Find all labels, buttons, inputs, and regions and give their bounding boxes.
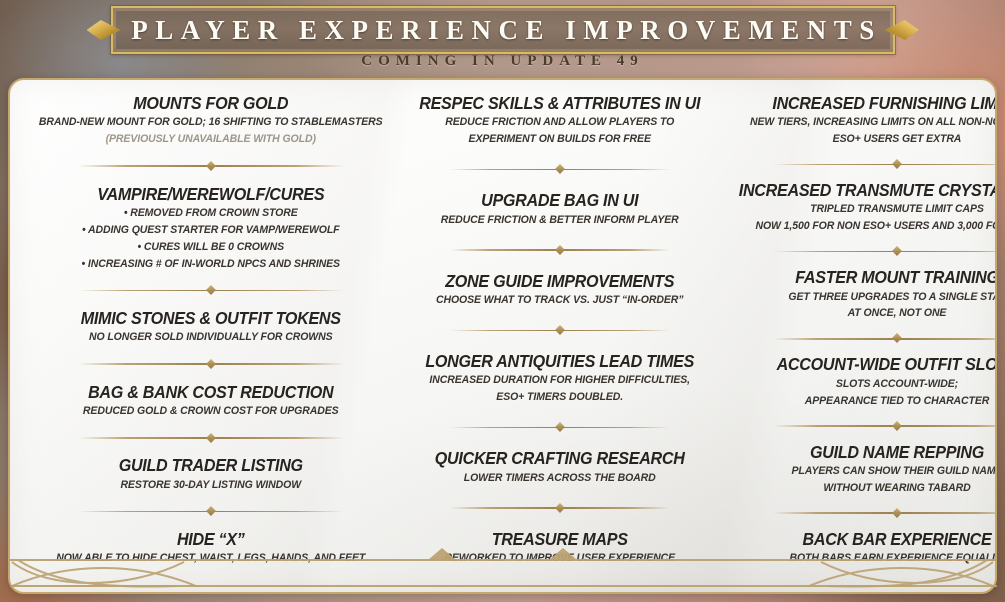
divider-line	[773, 425, 997, 427]
feature-item: MIMIC STONES & OUTFIT TOKENSNO LONGER SO…	[26, 309, 395, 345]
feature-item: BACK BAR EXPERIENCEBOTH BARS EARN EXPERI…	[725, 530, 997, 566]
feature-item: INCREASED TRANSMUTE CRYSTAL LIMITTRIPLED…	[725, 181, 997, 234]
feature-description-line: ESO+ TIMERS DOUBLED.	[418, 390, 702, 405]
section-divider	[78, 359, 344, 368]
feature-description-line: WITHOUT WEARING TABARD	[737, 481, 997, 496]
divider-diamond-icon	[206, 359, 216, 369]
feature-description-line: NOW 1,500 FOR NON ESO+ USERS AND 3,000 F…	[737, 219, 997, 234]
feature-title: GUILD NAME REPPING	[739, 443, 997, 462]
feature-description-line: BOTH BARS EARN EXPERIENCE EQUALLY	[737, 551, 997, 566]
section-divider	[78, 286, 344, 295]
divider-diamond-icon	[892, 508, 902, 518]
column-2: RESPEC SKILLS & ATTRIBUTES IN UIREDUCE F…	[401, 94, 718, 566]
divider-diamond-icon	[892, 246, 902, 256]
feature-description-line: (PREVIOUSLY UNAVAILABLE WITH GOLD)	[39, 132, 383, 147]
feature-item: GUILD TRADER LISTINGRESTORE 30-DAY LISTI…	[26, 456, 395, 492]
diamond-gem-icon-right	[885, 20, 919, 40]
feature-title: UPGRADE BAG IN UI	[420, 191, 701, 210]
section-divider	[450, 245, 670, 254]
feature-item: LONGER ANTIQUITIES LEAD TIMESINCREASED D…	[407, 352, 712, 405]
feature-title: LONGER ANTIQUITIES LEAD TIMES	[420, 352, 701, 371]
feature-item: ACCOUNT-WIDE OUTFIT SLOTSSLOTS ACCOUNT-W…	[725, 355, 997, 408]
feature-item: TREASURE MAPSREWORKED TO IMPROVE USER EX…	[407, 530, 712, 566]
feature-description-line: NOW ABLE TO HIDE CHEST, WAIST, LEGS, HAN…	[39, 551, 383, 566]
feature-item: BAG & BANK COST REDUCTIONREDUCED GOLD & …	[26, 383, 395, 419]
feature-title: ZONE GUIDE IMPROVEMENTS	[420, 272, 701, 291]
feature-description-line: NO LONGER SOLD INDIVIDUALLY FOR CROWNS	[39, 330, 383, 345]
diamond-gem-icon-left	[87, 20, 121, 40]
divider-line	[773, 164, 997, 166]
feature-description-line: BRAND-NEW MOUNT FOR GOLD; 16 SHIFTING TO…	[39, 115, 383, 130]
divider-diamond-icon	[555, 245, 565, 255]
feature-description-line: EXPERIMENT ON BUILDS FOR FREE	[418, 132, 702, 147]
page-subtitle: COMING IN UPDATE 49	[0, 53, 1005, 70]
feature-description-line: TRIPLED TRANSMUTE LIMIT CAPS	[737, 202, 997, 217]
section-divider	[450, 326, 670, 335]
feature-title: BACK BAR EXPERIENCE	[739, 530, 997, 549]
feature-title: QUICKER CRAFTING RESEARCH	[420, 449, 701, 468]
feature-description-line: NEW TIERS, INCREASING LIMITS ON ALL NON-…	[737, 115, 997, 130]
feature-title: HIDE “X”	[41, 530, 381, 549]
column-1: MOUNTS FOR GOLDBRAND-NEW MOUNT FOR GOLD;…	[16, 94, 401, 566]
divider-diamond-icon	[555, 503, 565, 513]
feature-description-line: CHOOSE WHAT TO TRACK VS. JUST “IN-ORDER”	[418, 293, 702, 308]
feature-description-line: ESO+ USERS GET EXTRA	[737, 132, 997, 147]
feature-description-line: REWORKED TO IMPROVE USER EXPERIENCE	[418, 551, 702, 566]
feature-description-line: PLAYERS CAN SHOW THEIR GUILD NAME	[737, 464, 997, 479]
feature-item: RESPEC SKILLS & ATTRIBUTES IN UIREDUCE F…	[407, 94, 712, 147]
divider-line	[773, 512, 997, 514]
divider-diamond-icon	[206, 433, 216, 443]
section-divider	[773, 334, 997, 343]
feature-description-line: • ADDING QUEST STARTER FOR VAMP/WEREWOLF	[39, 223, 383, 238]
title-banner: PLAYER EXPERIENCE IMPROVEMENTS	[111, 6, 895, 54]
feature-description-line: REDUCE FRICTION AND ALLOW PLAYERS TO	[418, 115, 702, 130]
divider-line	[773, 338, 997, 340]
section-divider	[773, 508, 997, 517]
feature-description-line: GET THREE UPGRADES TO A SINGLE STAT	[737, 290, 997, 305]
divider-diamond-icon	[206, 285, 216, 295]
feature-description-line: • INCREASING # OF IN-WORLD NPCS AND SHRI…	[39, 257, 383, 272]
divider-diamond-icon	[555, 325, 565, 335]
infographic-stage: PLAYER EXPERIENCE IMPROVEMENTS COMING IN…	[0, 0, 1005, 602]
divider-diamond-icon	[892, 159, 902, 169]
feature-title: GUILD TRADER LISTING	[41, 456, 381, 475]
feature-title: RESPEC SKILLS & ATTRIBUTES IN UI	[420, 94, 701, 113]
section-divider	[450, 165, 670, 174]
column-3: INCREASED FURNISHING LIMITSNEW TIERS, IN…	[719, 94, 997, 566]
divider-line	[773, 251, 997, 253]
feature-description-line: AT ONCE, NOT ONE	[737, 306, 997, 321]
feature-title: INCREASED TRANSMUTE CRYSTAL LIMIT	[739, 181, 997, 200]
feature-title: ACCOUNT-WIDE OUTFIT SLOTS	[739, 355, 997, 374]
feature-title: MOUNTS FOR GOLD	[41, 94, 381, 113]
feature-item: INCREASED FURNISHING LIMITSNEW TIERS, IN…	[725, 94, 997, 147]
feature-item: VAMPIRE/WEREWOLF/CURES• REMOVED FROM CRO…	[26, 185, 395, 272]
feature-title: VAMPIRE/WEREWOLF/CURES	[41, 185, 381, 204]
feature-item: UPGRADE BAG IN UIREDUCE FRICTION & BETTE…	[407, 191, 712, 227]
feature-description-line: • REMOVED FROM CROWN STORE	[39, 206, 383, 221]
section-divider	[773, 160, 997, 169]
feature-description-line: REDUCE FRICTION & BETTER INFORM PLAYER	[418, 213, 702, 228]
section-divider	[78, 507, 344, 516]
feature-title: FASTER MOUNT TRAINING	[739, 268, 997, 287]
section-divider	[78, 161, 344, 170]
feature-description-line: APPEARANCE TIED TO CHARACTER	[737, 394, 997, 409]
feature-item: HIDE “X”NOW ABLE TO HIDE CHEST, WAIST, L…	[26, 530, 395, 566]
feature-description-line: INCREASED DURATION FOR HIGHER DIFFICULTI…	[418, 373, 702, 388]
title-banner-wrapper: PLAYER EXPERIENCE IMPROVEMENTS	[0, 4, 1005, 56]
page-title: PLAYER EXPERIENCE IMPROVEMENTS	[123, 15, 882, 46]
feature-title: MIMIC STONES & OUTFIT TOKENS	[41, 309, 381, 328]
feature-description-line: RESTORE 30-DAY LISTING WINDOW	[39, 478, 383, 493]
feature-description-line: REDUCED GOLD & CROWN COST FOR UPGRADES	[39, 404, 383, 419]
feature-description-line: LOWER TIMERS ACROSS THE BOARD	[418, 471, 702, 486]
feature-item: GUILD NAME REPPINGPLAYERS CAN SHOW THEIR…	[725, 443, 997, 496]
feature-title: TREASURE MAPS	[420, 530, 701, 549]
divider-diamond-icon	[206, 161, 216, 171]
feature-description-line: SLOTS ACCOUNT-WIDE;	[737, 377, 997, 392]
divider-diamond-icon	[555, 422, 565, 432]
feature-title: INCREASED FURNISHING LIMITS	[739, 94, 997, 113]
section-divider	[773, 421, 997, 430]
feature-title: BAG & BANK COST REDUCTION	[41, 383, 381, 402]
section-divider	[78, 433, 344, 442]
feature-item: FASTER MOUNT TRAININGGET THREE UPGRADES …	[725, 268, 997, 321]
divider-diamond-icon	[892, 421, 902, 431]
section-divider	[450, 503, 670, 512]
feature-item: QUICKER CRAFTING RESEARCHLOWER TIMERS AC…	[407, 449, 712, 485]
columns-container: MOUNTS FOR GOLDBRAND-NEW MOUNT FOR GOLD;…	[10, 80, 995, 592]
feature-item: MOUNTS FOR GOLDBRAND-NEW MOUNT FOR GOLD;…	[26, 94, 395, 147]
divider-diamond-icon	[206, 506, 216, 516]
feature-item: ZONE GUIDE IMPROVEMENTSCHOOSE WHAT TO TR…	[407, 272, 712, 308]
section-divider	[773, 247, 997, 256]
content-panel: MOUNTS FOR GOLDBRAND-NEW MOUNT FOR GOLD;…	[8, 78, 997, 594]
divider-diamond-icon	[892, 333, 902, 343]
feature-description-line: • CURES WILL BE 0 CROWNS	[39, 240, 383, 255]
section-divider	[450, 423, 670, 432]
divider-diamond-icon	[555, 164, 565, 174]
